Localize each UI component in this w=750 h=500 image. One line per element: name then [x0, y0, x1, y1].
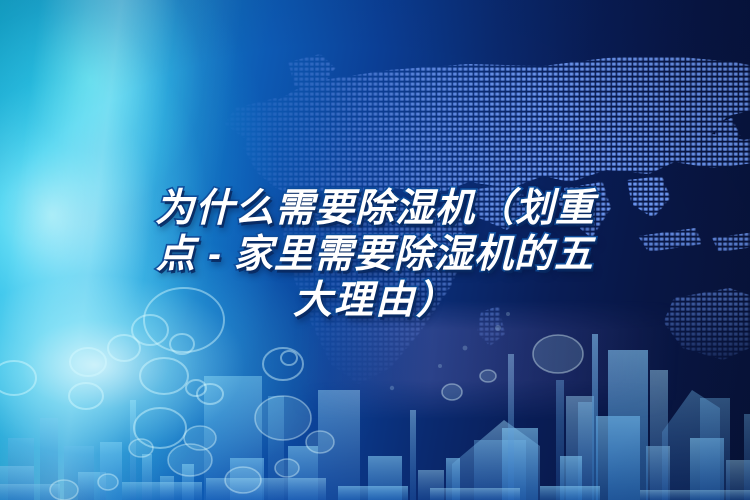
- banner-title: 为什么需要除湿机（划重 点 - 家里需要除湿机的五 大理由）: [0, 186, 750, 324]
- title-line-2: 点 - 家里需要除湿机的五: [60, 232, 690, 278]
- promo-banner: 为什么需要除湿机（划重 点 - 家里需要除湿机的五 大理由）: [0, 0, 750, 500]
- title-line-1: 为什么需要除湿机（划重: [60, 186, 690, 232]
- title-line-3: 大理由）: [60, 278, 690, 324]
